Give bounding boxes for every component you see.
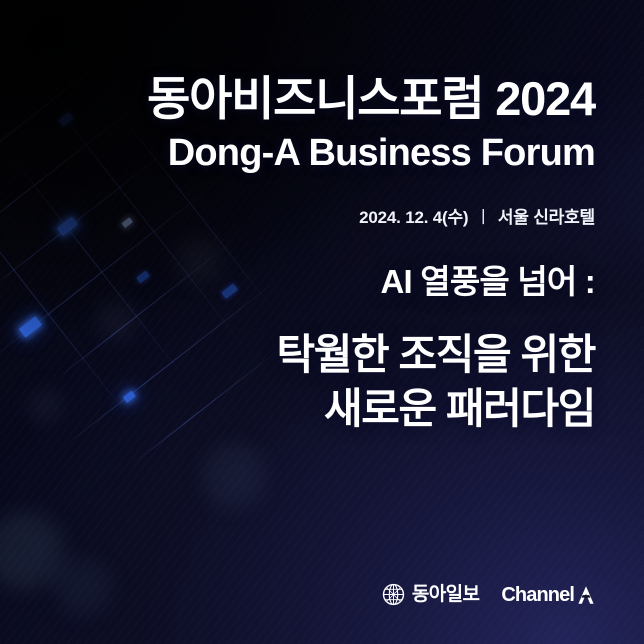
headline-line-1: AI 열풍을 넘어 : [277, 263, 595, 302]
event-poster: 동아비즈니스포럼 2024 Dong-A Business Forum 2024… [0, 0, 644, 644]
event-date: 2024. 12. 4(수) [359, 208, 468, 227]
meta-separator: ㅣ [468, 203, 497, 228]
headline-line-2: 탁월한 조직을 위한 [277, 328, 595, 382]
donga-ilbo-wordmark: 동아일보 [412, 585, 480, 604]
event-meta-line: 2024. 12. 4(수)ㅣ서울 신라호텔 [359, 203, 595, 228]
channel-a-wordmark: Channel [501, 585, 574, 605]
poster-title-english: Dong-A Business Forum [168, 133, 595, 175]
logo-donga-ilbo: 동아일보 [382, 583, 480, 606]
globe-emblem-icon [382, 583, 405, 606]
headline-line-3: 새로운 패러다임 [277, 382, 595, 436]
poster-headline: AI 열풍을 넘어 : 탁월한 조직을 위한 새로운 패러다임 [277, 263, 595, 435]
channel-a-letter-icon [577, 585, 595, 605]
event-venue: 서울 신라호텔 [498, 208, 595, 227]
logo-channel-a: Channel [501, 585, 595, 605]
sponsor-logo-strip: 동아일보 Channel [382, 583, 595, 606]
poster-content: 동아비즈니스포럼 2024 Dong-A Business Forum 2024… [0, 0, 644, 644]
poster-title-korean: 동아비즈니스포럼 2024 [147, 74, 595, 124]
